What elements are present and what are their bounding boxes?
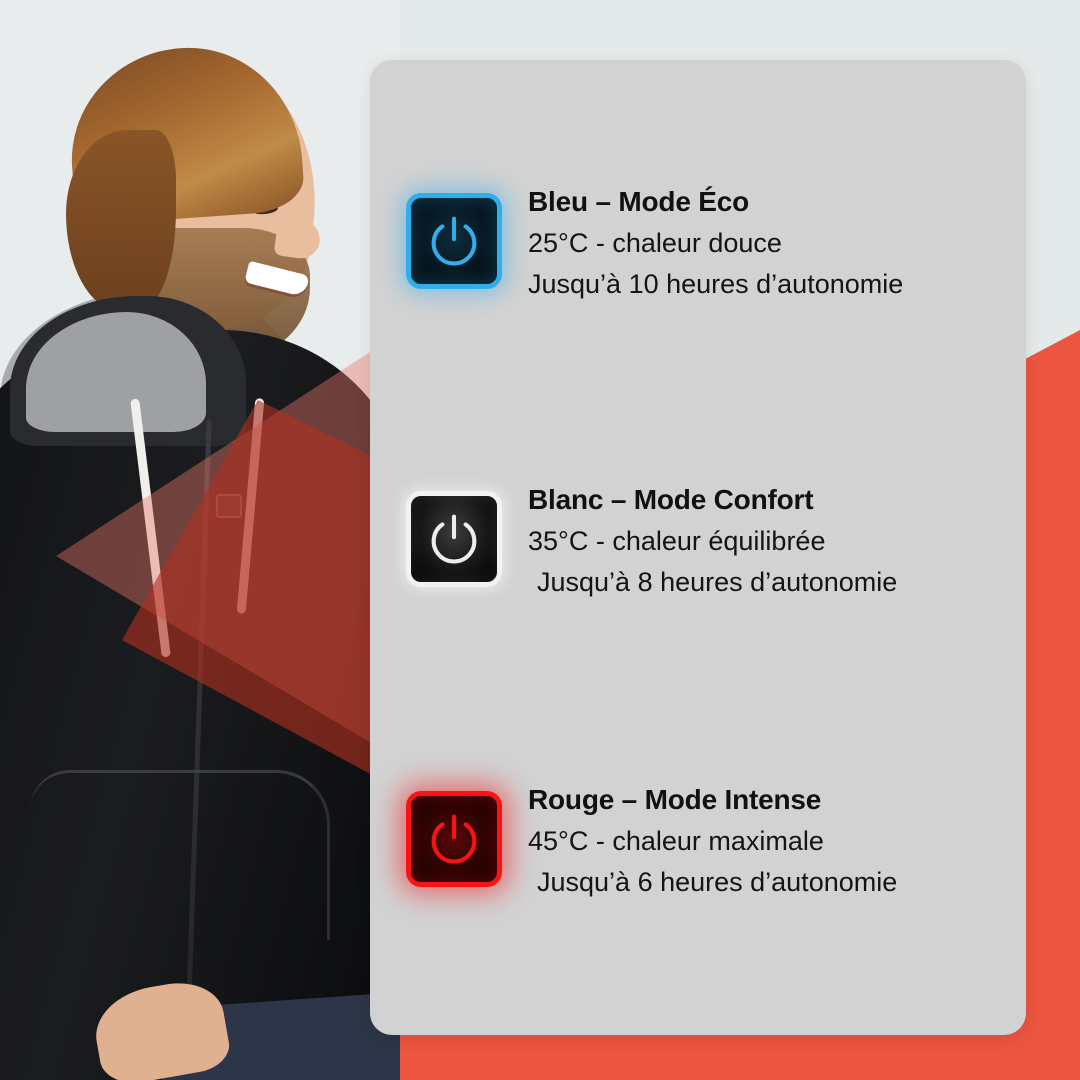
power-button-white[interactable] <box>406 491 502 587</box>
power-icon <box>423 508 485 570</box>
mode-row: Rouge – Mode Intense 45°C - chaleur maxi… <box>406 783 897 900</box>
hoodie-pocket <box>30 770 330 940</box>
mode-text: Rouge – Mode Intense 45°C - chaleur maxi… <box>528 783 897 900</box>
power-button-red[interactable] <box>406 791 502 887</box>
mode-text: Blanc – Mode Confort 35°C - chaleur équi… <box>528 483 897 600</box>
model-nose <box>273 215 322 261</box>
mode-title: Bleu – Mode Éco <box>528 185 903 218</box>
mode-autonomy: Jusqu’à 10 heures d’autonomie <box>528 267 903 302</box>
mode-temp: 35°C - chaleur équilibrée <box>528 524 897 559</box>
mode-temp: 25°C - chaleur douce <box>528 226 903 261</box>
power-icon <box>423 210 485 272</box>
mode-autonomy: Jusqu’à 8 heures d’autonomie <box>528 565 897 600</box>
mode-autonomy: Jusqu’à 6 heures d’autonomie <box>528 865 897 900</box>
mode-text: Bleu – Mode Éco 25°C - chaleur douce Jus… <box>528 185 903 302</box>
mode-row: Blanc – Mode Confort 35°C - chaleur équi… <box>406 483 897 600</box>
mode-title: Rouge – Mode Intense <box>528 783 897 816</box>
power-icon <box>423 808 485 870</box>
model-hair-side <box>66 130 176 310</box>
mode-temp: 45°C - chaleur maximale <box>528 824 897 859</box>
mode-title: Blanc – Mode Confort <box>528 483 897 516</box>
product-photo <box>0 0 400 1080</box>
mode-row: Bleu – Mode Éco 25°C - chaleur douce Jus… <box>406 185 903 302</box>
hoodie-brand-badge <box>216 494 242 518</box>
poster-canvas: Bleu – Mode Éco 25°C - chaleur douce Jus… <box>0 0 1080 1080</box>
power-button-blue[interactable] <box>406 193 502 289</box>
modes-card: Bleu – Mode Éco 25°C - chaleur douce Jus… <box>370 60 1026 1035</box>
